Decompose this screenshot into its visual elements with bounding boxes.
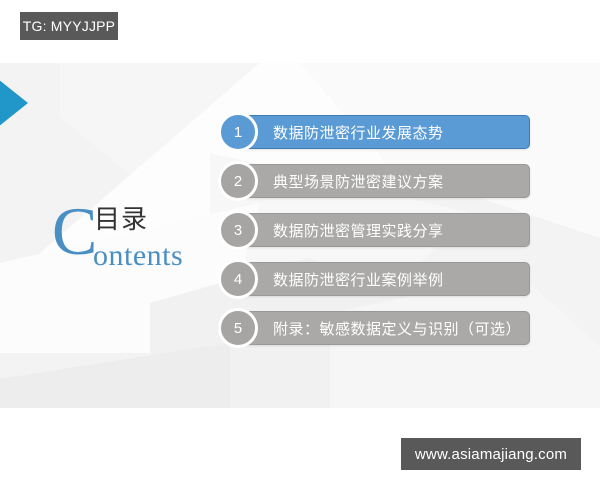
- background-facet: [300, 63, 600, 238]
- contents-item-5[interactable]: 附录：敏感数据定义与识别（可选） 5: [218, 311, 530, 345]
- contents-item-1[interactable]: 数据防泄密行业发展态势 1: [218, 115, 530, 149]
- contents-bar[interactable]: 数据防泄密行业发展态势: [238, 115, 530, 149]
- contents-bar[interactable]: 典型场景防泄密建议方案: [238, 164, 530, 198]
- contents-item-2[interactable]: 典型场景防泄密建议方案 2: [218, 164, 530, 198]
- watermark-bottom-right: www.asiamajiang.com: [401, 438, 581, 470]
- title-chinese: 目录: [94, 207, 148, 233]
- contents-item-label: 数据防泄密行业案例举例: [273, 269, 444, 290]
- title-english-rest: ontents: [93, 241, 183, 271]
- contents-item-number: 4: [218, 259, 258, 299]
- contents-bar[interactable]: 附录：敏感数据定义与识别（可选）: [238, 311, 530, 345]
- contents-item-number: 5: [218, 308, 258, 348]
- arrow-right-icon: [0, 79, 28, 127]
- contents-bar[interactable]: 数据防泄密行业案例举例: [238, 262, 530, 296]
- contents-item-label: 数据防泄密管理实践分享: [273, 220, 444, 241]
- title-initial-letter: C: [52, 197, 97, 265]
- contents-item-label: 典型场景防泄密建议方案: [273, 171, 444, 192]
- watermark-top-left: TG: MYYJJPP: [20, 12, 118, 40]
- contents-bar[interactable]: 数据防泄密管理实践分享: [238, 213, 530, 247]
- contents-item-label: 附录：敏感数据定义与识别（可选）: [273, 318, 521, 339]
- contents-item-number: 3: [218, 210, 258, 250]
- contents-item-4[interactable]: 数据防泄密行业案例举例 4: [218, 262, 530, 296]
- background-facet: [0, 343, 230, 408]
- contents-item-number: 2: [218, 161, 258, 201]
- page-title: C 目录 ontents: [52, 203, 212, 283]
- contents-item-label: 数据防泄密行业发展态势: [273, 122, 444, 143]
- contents-item-3[interactable]: 数据防泄密管理实践分享 3: [218, 213, 530, 247]
- slide-canvas: C 目录 ontents 数据防泄密行业发展态势 1 典型场景防泄密建议方案 2…: [0, 63, 600, 408]
- contents-item-number: 1: [218, 112, 258, 152]
